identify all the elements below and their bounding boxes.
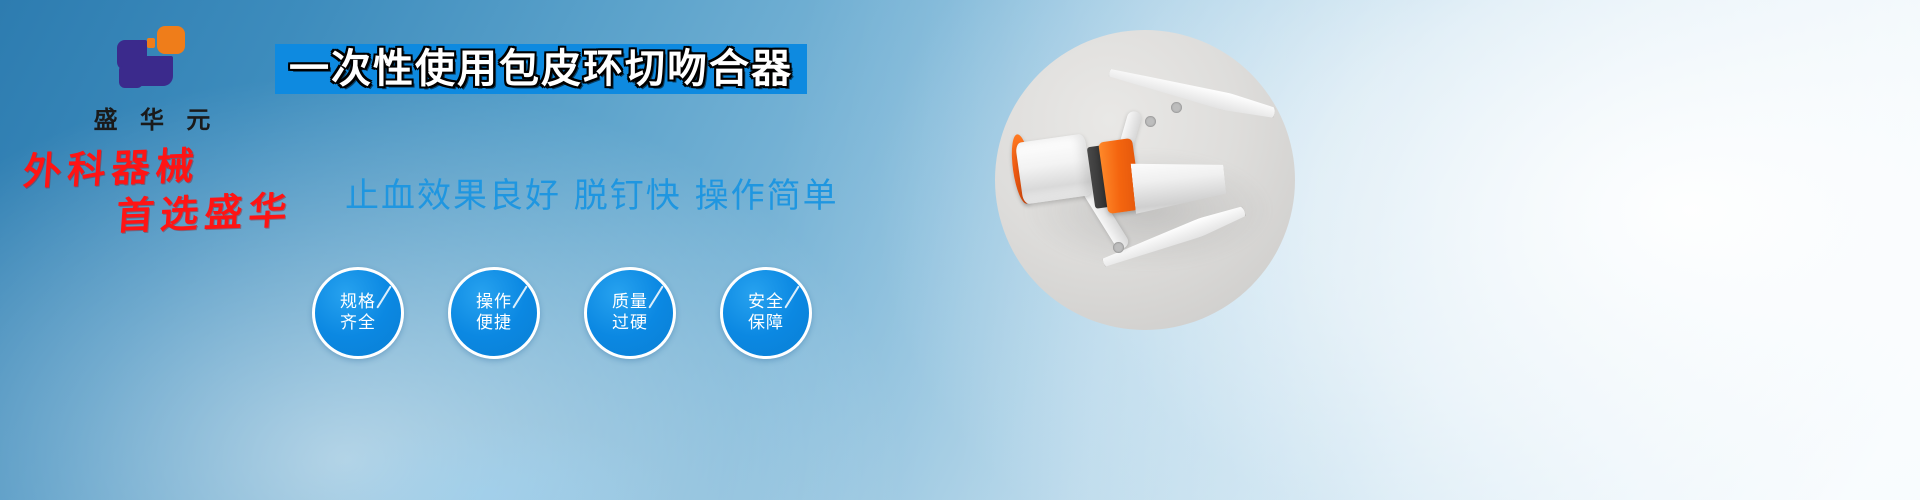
logo-block-b <box>139 56 173 86</box>
feature-badge-4-label: 安全 保障 <box>748 292 784 335</box>
feature-badge-3[interactable]: 质量 过硬 <box>584 267 676 359</box>
bottom-glow <box>300 420 680 500</box>
slash-accent-icon <box>376 285 391 308</box>
brand-logo[interactable]: 盛 华 元 <box>62 26 242 135</box>
main-title-band: 一次性使用包皮环切吻合器 <box>275 44 807 94</box>
calligraphy-slogan: 外科器械 首选盛华 <box>19 143 298 238</box>
calligraphy-line-2: 首选盛华 <box>115 191 294 235</box>
product-pivot-3 <box>1113 242 1124 253</box>
calligraphy-line-1: 外科器械 <box>22 143 298 190</box>
feature-badge-2[interactable]: 操作 便捷 <box>448 267 540 359</box>
logo-block-e-orange <box>147 38 155 48</box>
product-pivot-2 <box>1171 102 1182 113</box>
product-photo[interactable] <box>995 30 1295 330</box>
subtitle: 止血效果良好 脱钉快 操作简单 <box>345 168 839 217</box>
promo-banner: 盛 华 元 一次性使用包皮环切吻合器 外科器械 首选盛华 止血效果良好 脱钉快 … <box>0 0 1920 500</box>
feature-badge-1-label: 规格 齐全 <box>340 292 376 335</box>
slash-accent-icon <box>512 285 527 308</box>
logo-mark-icon <box>117 26 187 92</box>
logo-block-d <box>119 66 143 88</box>
feature-badge-4[interactable]: 安全 保障 <box>720 267 812 359</box>
feature-badge-2-label: 操作 便捷 <box>476 292 512 335</box>
feature-badge-list: 规格 齐全 操作 便捷 质量 过硬 安全 保障 <box>312 267 812 359</box>
product-barrel <box>1015 133 1093 204</box>
brand-name: 盛 华 元 <box>62 100 242 135</box>
logo-block-c-orange <box>157 26 185 54</box>
feature-badge-3-label: 质量 过硬 <box>612 292 648 335</box>
product-pivot-1 <box>1145 116 1156 127</box>
slash-accent-icon <box>784 285 799 308</box>
page-title: 一次性使用包皮环切吻合器 <box>289 49 793 89</box>
feature-badge-1[interactable]: 规格 齐全 <box>312 267 404 359</box>
slash-accent-icon <box>648 285 663 308</box>
